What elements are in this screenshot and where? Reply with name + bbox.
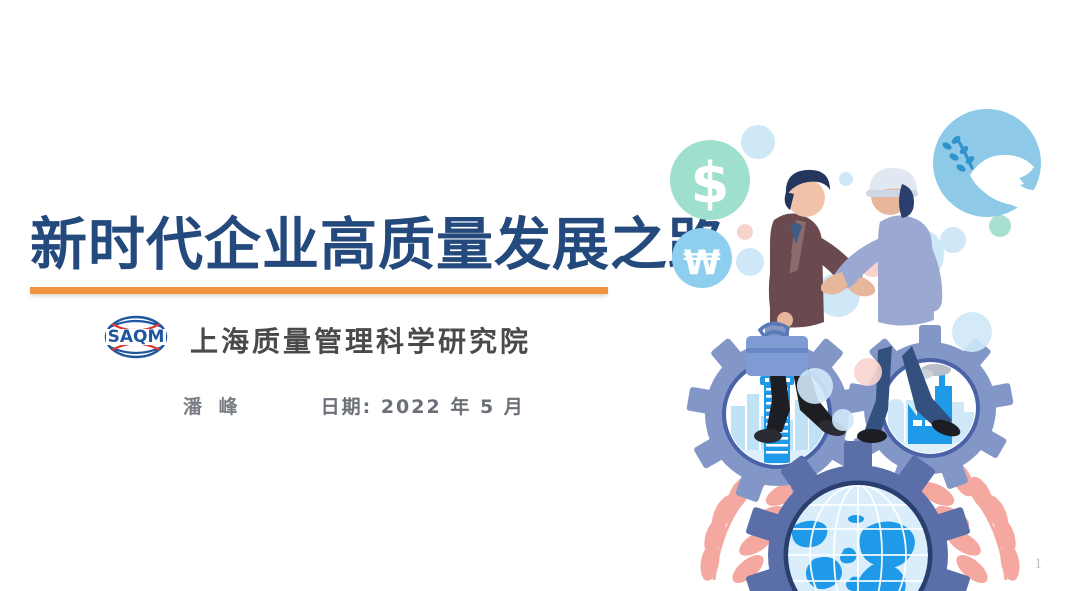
presentation-date: 日期: 2022 年 5 月 bbox=[321, 392, 525, 419]
illustration-svg: $ ₩ bbox=[640, 80, 1080, 591]
saqm-logo: SAQM bbox=[100, 313, 172, 366]
cover-illustration: $ ₩ bbox=[640, 80, 1080, 591]
dollar-badge: $ bbox=[670, 140, 750, 220]
page-title: 新时代企业高质量发展之路 bbox=[30, 210, 630, 280]
dove-badge bbox=[933, 109, 1066, 217]
title-underline-rule bbox=[30, 287, 608, 294]
organization-name: 上海质量管理科学研究院 bbox=[190, 320, 531, 360]
presenter-meta-row: 潘 峰 日期: 2022 年 5 月 bbox=[183, 392, 525, 419]
won-badge: ₩ bbox=[672, 228, 732, 288]
page-number: 1 bbox=[1035, 556, 1043, 573]
dollar-sign-icon: $ bbox=[691, 151, 730, 216]
saqm-logo-mark: SAQM bbox=[100, 313, 172, 361]
title-block: 新时代企业高质量发展之路 bbox=[30, 210, 630, 294]
presenter-name: 潘 峰 bbox=[183, 392, 243, 419]
won-sign-icon: ₩ bbox=[683, 243, 721, 283]
title-slide: 新时代企业高质量发展之路 SAQM 上海质量管理科学研究院 潘 峰 日期: 20… bbox=[0, 0, 1080, 591]
organization-row: SAQM 上海质量管理科学研究院 bbox=[100, 313, 531, 366]
saqm-logo-text: SAQM bbox=[108, 327, 165, 347]
